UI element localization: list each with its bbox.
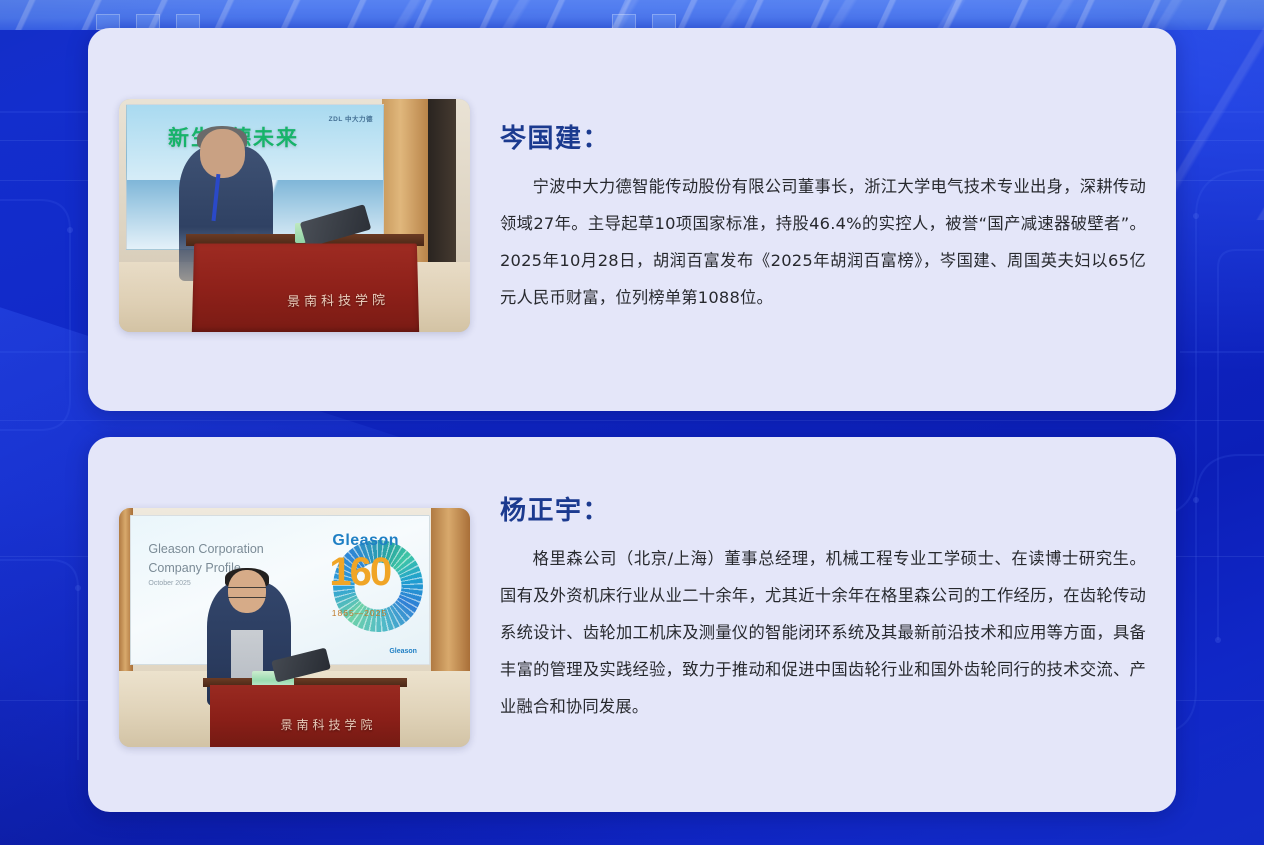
photo-slide-date: October 2025	[148, 580, 190, 587]
photo-speaker-head	[200, 129, 246, 178]
speaker-text-block: 杨正宇： 格里森公司（北京/上海）董事总经理，机械工程专业工学硕士、在读博士研究…	[500, 497, 1146, 725]
speaker-name: 杨正宇：	[500, 497, 1146, 526]
speaker-text-block: 岑国建： 宁波中大力德智能传动股份有限公司董事长，浙江大学电气技术专业出身，深耕…	[500, 125, 1146, 316]
photo-slide-years: 1865—2025	[332, 608, 387, 618]
speaker-card: Gleason Corporation Company Profile Octo…	[88, 437, 1176, 812]
photo-slide-brand-small: Gleason	[389, 648, 417, 655]
speaker-card: 新生德未来 中大力德智能传动·品牌发布 ZDL 中大力德 景南科技学院 岑国建：…	[88, 28, 1176, 411]
speaker-photo: 新生德未来 中大力德智能传动·品牌发布 ZDL 中大力德 景南科技学院	[119, 99, 470, 332]
photo-scene-杨正宇: Gleason Corporation Company Profile Octo…	[119, 508, 470, 747]
photo-curtain-right	[431, 508, 470, 685]
photo-speaker-glasses	[228, 587, 267, 599]
photo-slide-title-line1: Gleason Corporation	[148, 542, 263, 556]
speaker-photo: Gleason Corporation Company Profile Octo…	[119, 508, 470, 747]
photo-slide-brand: Gleason	[332, 532, 399, 550]
speaker-bio: 格里森公司（北京/上海）董事总经理，机械工程专业工学硕士、在读博士研究生。国有及…	[500, 540, 1146, 725]
photo-slide-anniversary: 160	[329, 552, 390, 592]
photo-slide-logo: ZDL 中大力德	[329, 113, 373, 123]
photo-scene-岑国建: 新生德未来 中大力德智能传动·品牌发布 ZDL 中大力德 景南科技学院	[119, 99, 470, 332]
speaker-name: 岑国建：	[500, 125, 1146, 154]
photo-wood-panel-right	[428, 99, 456, 262]
speaker-bio: 宁波中大力德智能传动股份有限公司董事长，浙江大学电气技术专业出身，深耕传动领域2…	[500, 168, 1146, 316]
photo-podium-inscription: 景南科技学院	[280, 716, 376, 733]
photo-podium-inscription: 景南科技学院	[287, 289, 389, 310]
photo-podium	[192, 244, 419, 332]
